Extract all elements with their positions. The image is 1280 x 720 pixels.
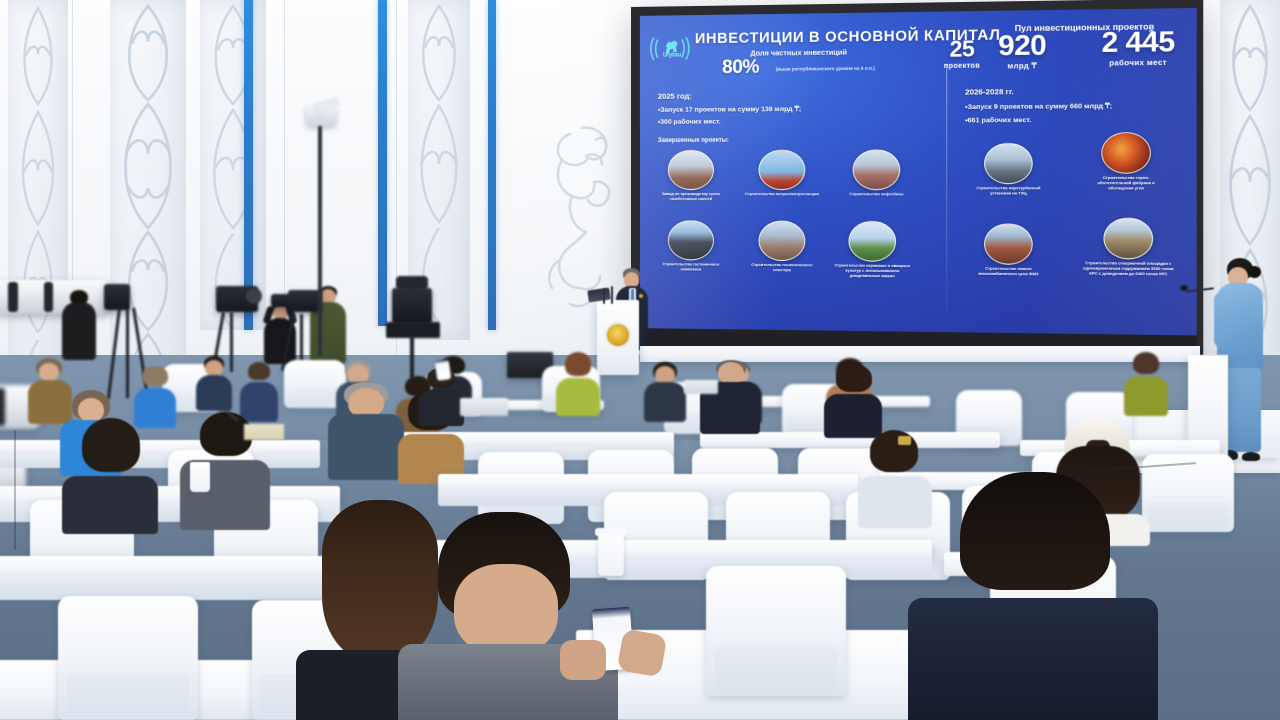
- audience-member-with-phone: [398, 512, 618, 720]
- podium-microphone: [603, 288, 605, 304]
- chair: [58, 596, 198, 720]
- project-caption: Строительство откормочной площадки с еди…: [1082, 261, 1175, 277]
- smartphone[interactable]: [435, 359, 452, 381]
- project-caption: Строительство горно-обогатительной фабри…: [1086, 176, 1166, 191]
- slide-content: Ulytau ИНВЕСТИЦИИ В ОСНОВНОЙ КАПИТАЛ 3 Д…: [640, 8, 1197, 335]
- svg-text:Ulytau: Ulytau: [663, 52, 682, 58]
- podium-microphone: [611, 286, 613, 304]
- audience-member: [1124, 352, 1168, 414]
- project-caption: Строительство геологического кластера: [744, 263, 819, 273]
- audience-member: [62, 418, 158, 530]
- left-bullet-1: •Запуск 17 проектов на сумму 138 млрд ₸;: [658, 105, 801, 114]
- factory-icon: [668, 150, 714, 190]
- hand: [560, 640, 606, 680]
- kpi-sum-caption: млрд ₸: [980, 61, 1065, 71]
- audience-member: [196, 356, 232, 410]
- light-knob: [318, 108, 324, 114]
- light-stand-pole: [318, 126, 322, 356]
- pipeline-icon: [853, 149, 901, 190]
- project-caption: Строительство паротурбинной установки на…: [969, 186, 1047, 196]
- coffee-cup: [190, 462, 210, 492]
- lens-band: [0, 388, 5, 426]
- ornamental-wall-panel: [200, 0, 266, 330]
- desk-front: [0, 454, 320, 468]
- microphone-head-icon: [1180, 285, 1188, 291]
- project-caption: Строительство нового мясокомбинатного це…: [969, 267, 1047, 278]
- project-item: Строительство геологического кластера: [744, 220, 819, 273]
- chair: [706, 566, 846, 696]
- building-icon: [668, 220, 714, 260]
- audience-member: [556, 352, 600, 414]
- project-item: Строительство ветроэлектростанции: [744, 150, 819, 198]
- led-presentation-screen[interactable]: Ulytau ИНВЕСТИЦИИ В ОСНОВНОЙ КАПИТАЛ 3 Д…: [631, 0, 1203, 359]
- column-divider: [946, 65, 947, 312]
- private-share-value: 80%: [722, 57, 759, 80]
- meat-icon: [984, 223, 1033, 265]
- regional-emblem-logo: Ulytau: [650, 31, 690, 66]
- project-caption: Завод по производству сухих газобетонных…: [654, 192, 728, 202]
- farm-icon: [1103, 218, 1153, 260]
- project-item: Строительство кормовых и овощных культур…: [834, 221, 911, 279]
- blue-accent-strip: [488, 0, 496, 330]
- kpi-jobs-value: 2 445: [1073, 27, 1196, 58]
- photographer: [62, 288, 96, 360]
- lens-band: [8, 282, 18, 312]
- right-bullet-1: •Запуск 9 проектов на сумму 660 млрд ₸;: [965, 102, 1112, 111]
- press-briefing-photo: Ulytau ИНВЕСТИЦИИ В ОСНОВНОЙ КАПИТАЛ 3 Д…: [0, 0, 1280, 720]
- main-podium: [597, 300, 639, 375]
- wind-icon: [758, 150, 805, 191]
- blue-accent-strip: [378, 0, 387, 326]
- project-item: Строительство горно-обогатительной фабри…: [1086, 132, 1166, 191]
- tec-icon: [984, 143, 1033, 184]
- hair-clip: [898, 436, 911, 445]
- field-icon: [848, 221, 896, 262]
- project-item: Строительство паротурбинной установки на…: [969, 143, 1047, 197]
- audience-member: [700, 360, 760, 432]
- audience-member: [824, 364, 882, 436]
- kpi-sum: 920 млрд ₸: [980, 31, 1065, 71]
- left-bullet-2: •300 рабочих мест.: [658, 119, 721, 126]
- project-caption: Строительство кормовых и овощных культур…: [834, 263, 911, 279]
- audience-member: [134, 366, 176, 426]
- right-bullet-2: •661 рабочих мест.: [965, 117, 1031, 125]
- private-share-label: Доля частных инвестиций: [750, 48, 847, 58]
- cup-lid: [595, 528, 627, 536]
- left-sub-head: Завершенные проекты:: [658, 138, 729, 144]
- kpi-sum-value: 920: [980, 31, 1065, 61]
- private-share-note: (выше республиканского уровня на 9 п.п.): [776, 66, 875, 72]
- left-year-head: 2025 год:: [658, 92, 692, 101]
- hand: [617, 628, 668, 677]
- tripod-leg: [126, 308, 129, 398]
- lens-band: [44, 282, 53, 312]
- video-camera: [288, 290, 322, 312]
- project-item: Строительство нового мясокомбинатного це…: [969, 223, 1047, 277]
- audience-member: [328, 382, 404, 478]
- tripod-leg: [410, 336, 414, 378]
- project-caption: Строительство нефтебазы: [838, 192, 915, 197]
- laptop[interactable]: [684, 380, 718, 394]
- audience-member-foreground: [908, 472, 1158, 720]
- camera-lens-icon: [246, 288, 262, 304]
- project-item: Строительство гостиничного комплекса: [654, 220, 728, 272]
- blue-accent-strip: [244, 0, 253, 330]
- state-emblem-gold-icon: [607, 324, 629, 346]
- laptop[interactable]: [460, 398, 508, 416]
- right-year-head: 2026-2028 гг.: [965, 87, 1014, 97]
- kpi-jobs-caption: рабочих мест: [1073, 57, 1196, 68]
- coal-icon: [1101, 132, 1151, 174]
- audience-member: [644, 362, 686, 420]
- project-item: Строительство откормочной площадки с еди…: [1082, 217, 1175, 277]
- project-item: Завод по производству сухих газобетонных…: [654, 150, 728, 202]
- project-item: Строительство нефтебазы: [838, 149, 915, 197]
- mic-stand: [14, 430, 16, 550]
- project-caption: Строительство ветроэлектростанции: [744, 192, 819, 197]
- video-camera: [392, 288, 432, 324]
- notepad: [244, 424, 284, 440]
- geology-icon: [758, 220, 805, 261]
- camera-body: [104, 284, 130, 310]
- project-caption: Строительство гостиничного комплекса: [654, 262, 728, 272]
- kpi-jobs: 2 445 рабочих мест: [1073, 27, 1196, 68]
- coffee-cup: [598, 532, 624, 576]
- camera-hood: [396, 276, 428, 290]
